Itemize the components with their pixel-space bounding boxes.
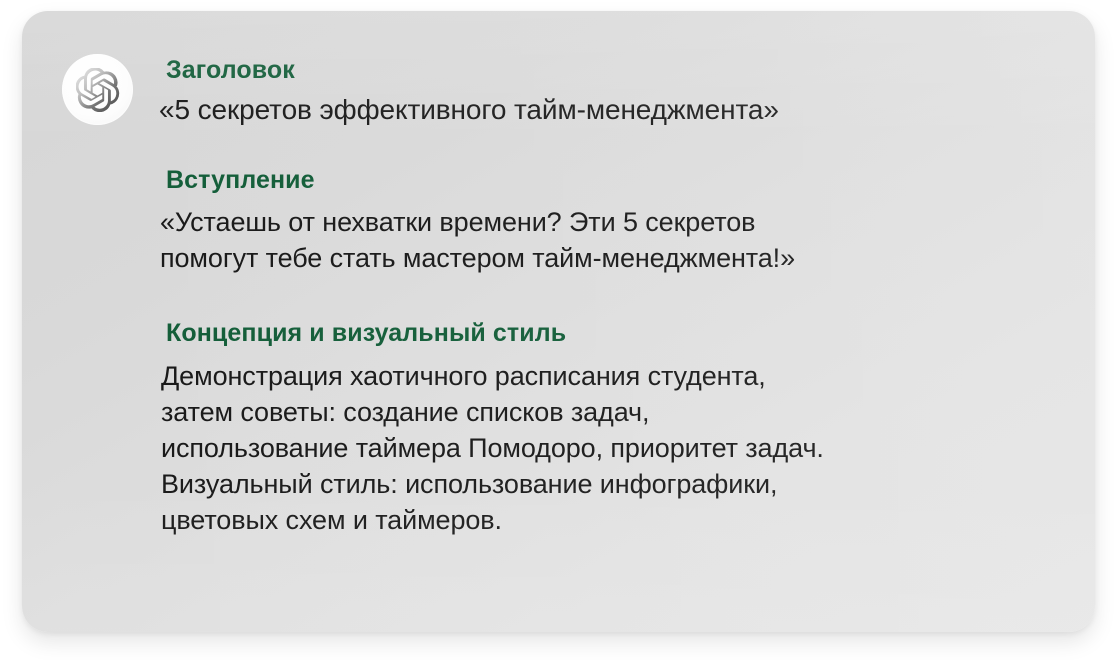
section-concept: Концепция и визуальный стиль Демонстраци… xyxy=(159,318,1059,538)
section-body-intro: «Устаешь от нехватки времени? Эти 5 секр… xyxy=(160,204,1059,276)
text-line: Демонстрация хаотичного расписания студе… xyxy=(161,358,1059,394)
chat-message-card: Заголовок «5 секретов эффективного тайм-… xyxy=(22,11,1095,632)
text-line: «Устаешь от нехватки времени? Эти 5 секр… xyxy=(160,204,1059,240)
section-heading-concept: Концепция и визуальный стиль xyxy=(166,318,1059,348)
text-line: использование таймера Помодоро, приорите… xyxy=(161,430,1059,466)
text-line: цветовых схем и таймеров. xyxy=(161,502,1059,538)
text-line: помогут тебе стать мастером тайм-менеджм… xyxy=(160,240,1059,276)
text-line: «5 секретов эффективного тайм-менеджмент… xyxy=(159,91,1059,129)
section-heading-title: Заголовок xyxy=(166,55,1059,85)
openai-logo-icon xyxy=(76,68,120,112)
avatar xyxy=(62,54,133,125)
text-line: затем советы: создание списков задач, xyxy=(161,394,1059,430)
text-line: Визуальный стиль: использование инфограф… xyxy=(161,466,1059,502)
section-intro: Вступление «Устаешь от нехватки времени?… xyxy=(159,165,1059,276)
section-body-concept: Демонстрация хаотичного расписания студе… xyxy=(161,358,1059,538)
section-title: Заголовок «5 секретов эффективного тайм-… xyxy=(159,55,1059,129)
message-content: Заголовок «5 секретов эффективного тайм-… xyxy=(159,55,1059,538)
section-body-title: «5 секретов эффективного тайм-менеджмент… xyxy=(159,91,1059,129)
section-heading-intro: Вступление xyxy=(166,165,1059,195)
screenshot-stage: Заголовок «5 секретов эффективного тайм-… xyxy=(0,0,1120,660)
